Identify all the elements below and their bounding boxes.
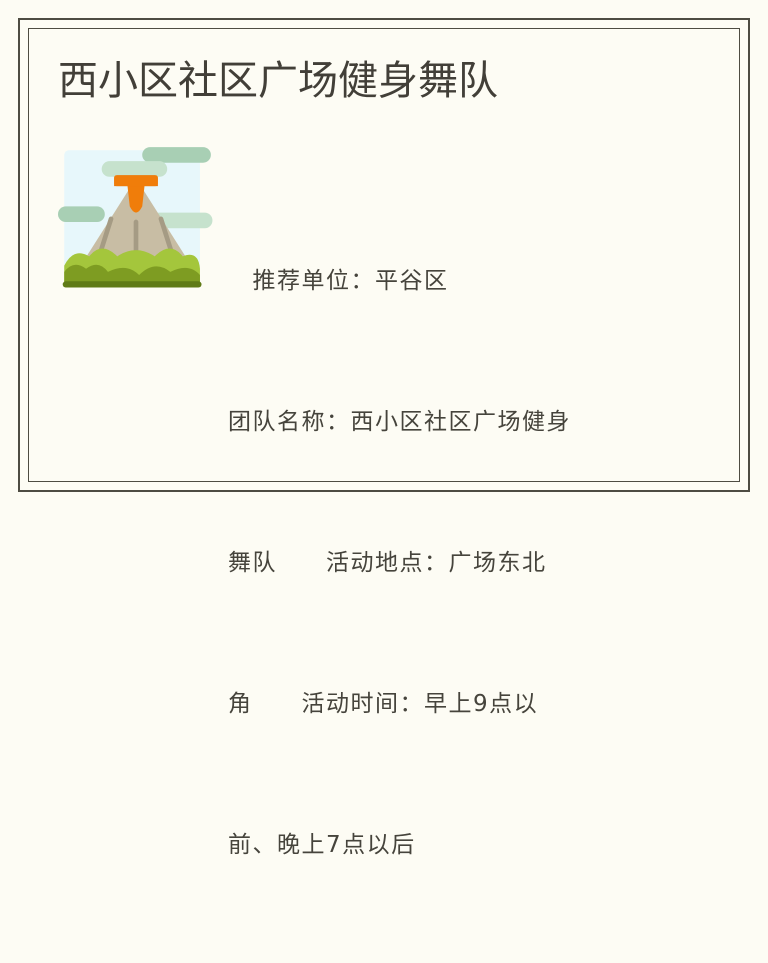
lava-rim xyxy=(114,175,158,186)
body-line-4: 角 活动时间：早上9点以 xyxy=(228,681,658,728)
cloud-top-left xyxy=(102,161,168,177)
body-line-2: 团队名称：西小区社区广场健身 xyxy=(228,399,658,446)
body-line-5: 前、晚上7点以后 xyxy=(228,822,658,869)
body-line-1: 推荐单位：平谷区 xyxy=(228,258,658,305)
ground-line xyxy=(63,281,202,287)
volcano-icon xyxy=(58,144,214,300)
cloud-mid-left xyxy=(58,206,105,222)
cloud-top-right xyxy=(142,147,211,163)
poster-card: 西小区社区广场健身舞队 xyxy=(0,0,768,510)
page-title: 西小区社区广场健身舞队 xyxy=(58,56,718,106)
body-line-3: 舞队 活动地点：广场东北 xyxy=(228,540,658,587)
poster-body-text: 推荐单位：平谷区 团队名称：西小区社区广场健身 舞队 活动地点：广场东北 角 活… xyxy=(228,164,658,963)
